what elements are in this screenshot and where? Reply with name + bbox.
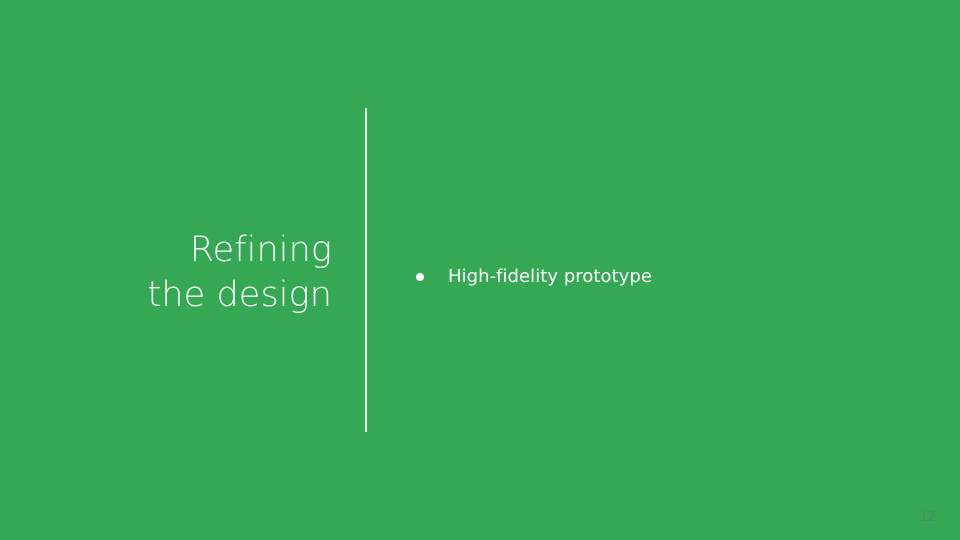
- list-item: High-fidelity prototype: [410, 264, 910, 290]
- slide-canvas: Refining the design High-fidelity protot…: [0, 0, 960, 540]
- bullet-dot-icon: [410, 264, 448, 281]
- page-title: Refining the design: [60, 228, 332, 318]
- vertical-divider: [365, 108, 367, 432]
- page-number: 12: [919, 510, 936, 526]
- bullet-list: High-fidelity prototype: [410, 264, 910, 290]
- page-title-line-2: the design: [60, 273, 332, 318]
- list-item-label: High-fidelity prototype: [448, 264, 910, 290]
- page-title-line-1: Refining: [60, 228, 332, 273]
